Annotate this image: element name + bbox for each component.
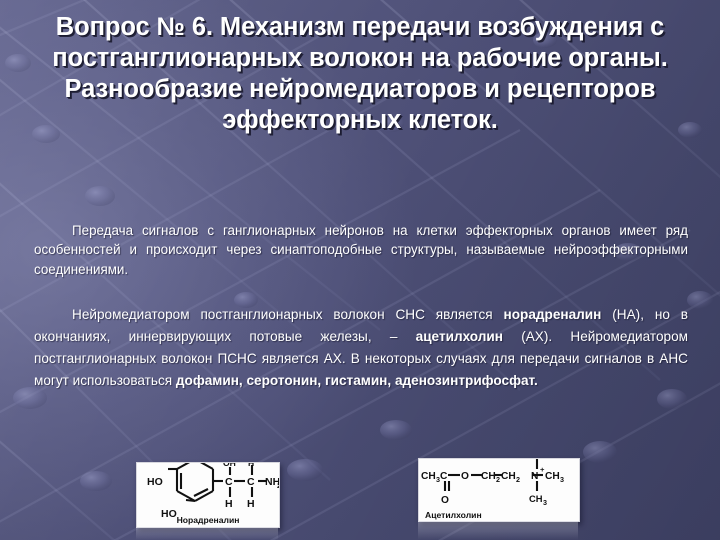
label-ch3-bottom-subscript: 3 (543, 498, 547, 507)
label-ch2-b-subscript: 2 (516, 475, 520, 484)
label-ch3-bottom: CH (529, 493, 543, 504)
label-ch3-right-subscript: 3 (560, 475, 564, 484)
term-acetylcholine: ацетилхолин (416, 329, 503, 344)
label-nitrogen: N (531, 471, 538, 482)
paragraph-intro: Передача сигналов с ганглионарных нейрон… (34, 221, 688, 279)
figure-noradrenaline: HO HO C C H H OH H NH 2 Норадреналин (136, 462, 280, 528)
label-nh2-subscript: 2 (277, 481, 279, 490)
label-ch2-a: CH (481, 471, 496, 482)
figure-acetylcholine: CH 3 C O O CH 2 CH 2 N + CH 3 CH CH 3 Ац… (418, 458, 580, 522)
label-ch2-b: CH (501, 471, 516, 482)
paragraph-neurotransmitters: Нейромедиатором постганглионарных волоко… (34, 304, 688, 392)
caption-noradrenaline: Норадреналин (137, 515, 279, 525)
label-carbon-1: C (225, 476, 233, 488)
label-ch3-right: CH (545, 471, 560, 482)
slide-canvas: Вопрос № 6. Механизм передачи возбуждени… (0, 0, 720, 540)
label-ch2-a-subscript: 2 (496, 475, 500, 484)
slide-title: Вопрос № 6. Механизм передачи возбуждени… (38, 12, 682, 136)
caption-acetylcholine: Ацетилхолин (425, 510, 482, 520)
label-carbonyl-oxygen: O (441, 495, 449, 506)
label-h-2: H (247, 498, 255, 510)
p2-run-1: Нейромедиатором постганглионарных волоко… (72, 307, 504, 322)
label-h-1: H (225, 498, 233, 510)
label-oh: OH (223, 463, 236, 468)
term-other-mediators: дофамин, серотонин, гистамин, аденозинтр… (176, 373, 538, 388)
label-ch3-left: CH (421, 471, 436, 482)
label-ch3-top: CH (529, 459, 543, 460)
label-ester-oxygen: O (461, 471, 469, 482)
label-ho-upper: HO (147, 476, 163, 488)
term-noradrenaline: норадреналин (504, 307, 602, 322)
label-h-top: H (248, 463, 254, 468)
label-carbon-2: C (247, 476, 255, 488)
label-carbonyl-carbon: C (440, 471, 448, 482)
